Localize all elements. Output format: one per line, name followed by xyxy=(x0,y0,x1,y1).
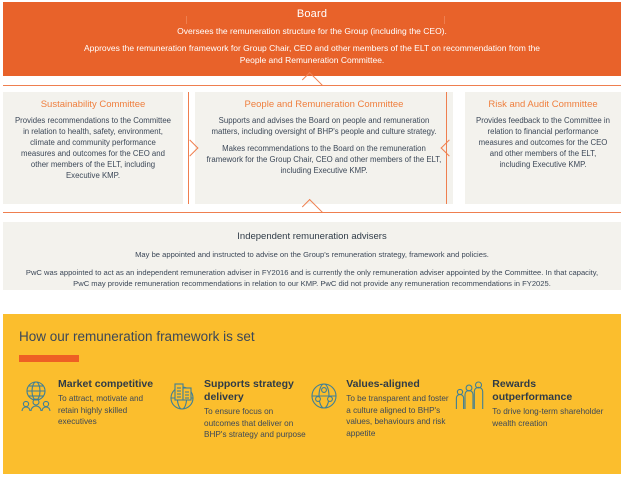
committee-title: Sustainability Committee xyxy=(13,99,173,111)
board-title: Board xyxy=(73,8,551,20)
pillar-heading: Supports strategy delivery xyxy=(204,378,307,404)
committee-title: People and Remuneration Committee xyxy=(205,99,443,111)
accent-bar xyxy=(19,355,79,362)
pillar-values-aligned: Values-aligned To be transparent and fos… xyxy=(307,378,453,441)
board-banner: Board Oversees the remuneration structur… xyxy=(3,2,621,76)
pillar-supports-strategy-delivery: Supports strategy delivery To ensure foc… xyxy=(165,378,307,441)
pillar-rewards-outperformance: Rewards outperformance To drive long-ter… xyxy=(453,378,607,441)
committee-paragraph: Supports and advises the Board on people… xyxy=(205,115,443,137)
people-group-icon xyxy=(453,379,487,413)
committee-card-people-and-remuneration: People and Remuneration Committee Suppor… xyxy=(195,92,453,204)
globe-people-icon xyxy=(19,379,53,413)
committee-title: Risk and Audit Committee xyxy=(475,99,611,111)
advisers-paragraph: May be appointed and instructed to advis… xyxy=(17,249,607,260)
committee-row: Sustainability Committee Provides recomm… xyxy=(3,92,621,204)
chevron-up-icon xyxy=(302,199,323,220)
board-statement-2: Approves the remuneration framework for … xyxy=(73,42,551,66)
pillar-heading: Rewards outperformance xyxy=(492,378,607,404)
globe-network-icon xyxy=(307,379,341,413)
pillar-market-competitive: Market competitive To attract, motivate … xyxy=(19,378,165,441)
pillar-text: To attract, motivate and retain highly s… xyxy=(58,393,165,428)
chevron-up-icon xyxy=(302,72,323,93)
independent-advisers-panel: Independent remuneration advisers May be… xyxy=(3,222,621,290)
advisers-paragraph: PwC was appointed to act as an independe… xyxy=(17,267,607,289)
pillar-heading: Values-aligned xyxy=(346,378,453,391)
framework-panel: How our remuneration framework is set xyxy=(3,314,621,474)
committee-card-risk-and-audit: Risk and Audit Committee Provides feedba… xyxy=(465,92,621,204)
pillar-text: To ensure focus on outcomes that deliver… xyxy=(204,406,307,441)
framework-pillars: Market competitive To attract, motivate … xyxy=(19,378,607,441)
committee-paragraph: Makes recommendations to the Board on th… xyxy=(205,143,443,176)
committee-paragraph: Provides feedback to the Committee in re… xyxy=(475,115,611,170)
board-statement-1: Oversees the remuneration structure for … xyxy=(73,25,551,37)
committee-paragraph: Provides recommendations to the Committe… xyxy=(13,115,173,181)
committee-card-sustainability: Sustainability Committee Provides recomm… xyxy=(3,92,183,204)
framework-title: How our remuneration framework is set xyxy=(19,328,607,345)
pillar-text: To be transparent and foster a culture a… xyxy=(346,393,453,439)
advisers-title: Independent remuneration advisers xyxy=(17,231,607,242)
connector-sustainability-to-people xyxy=(183,92,195,204)
connector-board-to-committees xyxy=(3,76,621,92)
connector-tick-left xyxy=(186,16,187,24)
connector-tick-right xyxy=(444,16,445,24)
connector-committees-to-advisers xyxy=(3,203,621,219)
globe-city-icon xyxy=(165,379,199,413)
connector-risk-to-people xyxy=(441,92,453,204)
pillar-text: To drive long-term shareholder wealth cr… xyxy=(492,406,607,429)
remuneration-governance-diagram: Board Oversees the remuneration structur… xyxy=(0,0,624,479)
pillar-heading: Market competitive xyxy=(58,378,165,391)
